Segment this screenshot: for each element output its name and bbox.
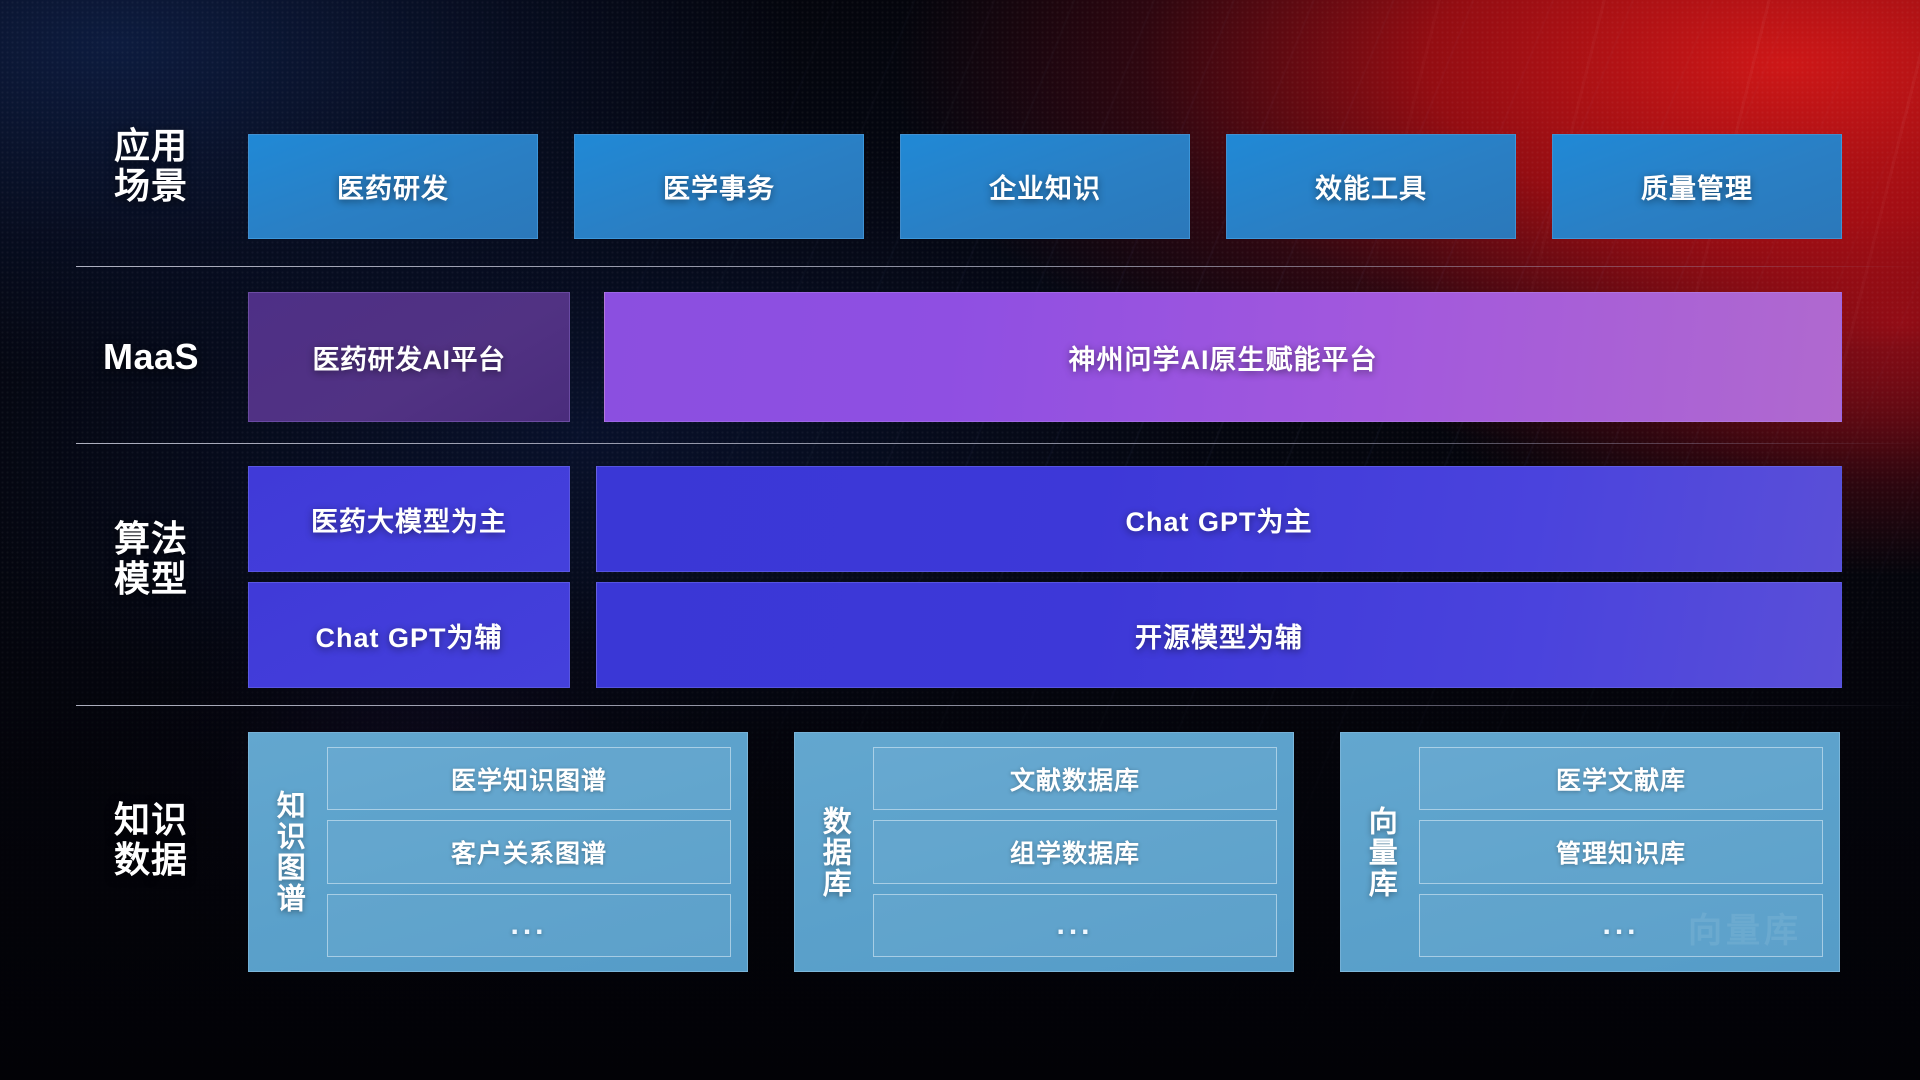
algo-row2-left-card[interactable]: Chat GPT为辅 <box>248 582 570 688</box>
algo-row2-right-card[interactable]: 开源模型为辅 <box>596 582 1842 688</box>
knowledge-group-2-item-3[interactable]: ... <box>873 894 1277 957</box>
app-card-5-label: 质量管理 <box>1641 167 1753 206</box>
row-label-application: 应用 场景 <box>76 126 226 207</box>
algo-row1-right-label: Chat GPT为主 <box>1125 500 1312 539</box>
knowledge-group-1-title: 知识图谱 <box>259 747 317 957</box>
row-label-application-line2: 场景 <box>76 166 226 206</box>
row-label-algorithm-line2: 模型 <box>76 559 226 599</box>
architecture-diagram: 应用 场景 医药研发 医学事务 企业知识 效能工具 质量管理 MaaS 医药研发… <box>0 0 1920 1080</box>
knowledge-group-3-item-3[interactable]: ... <box>1419 894 1823 957</box>
knowledge-group-1-item-1[interactable]: 医学知识图谱 <box>327 747 731 810</box>
divider-3 <box>76 705 1920 706</box>
knowledge-group-2[interactable]: 数据库 文献数据库 组学数据库 ... <box>794 732 1294 972</box>
knowledge-group-2-title: 数据库 <box>805 747 863 957</box>
knowledge-group-3-title: 向量库 <box>1351 747 1409 957</box>
row-label-algorithm: 算法 模型 <box>76 519 226 600</box>
maas-left-card-label: 医药研发AI平台 <box>313 338 506 377</box>
maas-right-card-label: 神州问学AI原生赋能平台 <box>1069 338 1378 377</box>
app-card-5[interactable]: 质量管理 <box>1552 134 1842 239</box>
algo-row1-right-card[interactable]: Chat GPT为主 <box>596 466 1842 572</box>
row-label-maas: MaaS <box>76 337 226 377</box>
row-label-maas-text: MaaS <box>76 337 226 377</box>
algo-row2-right-label: 开源模型为辅 <box>1135 616 1303 655</box>
divider-1 <box>76 266 1920 267</box>
knowledge-group-2-item-1[interactable]: 文献数据库 <box>873 747 1277 810</box>
app-card-4-label: 效能工具 <box>1315 167 1427 206</box>
app-card-4[interactable]: 效能工具 <box>1226 134 1516 239</box>
divider-2 <box>76 443 1920 444</box>
app-card-3-label: 企业知识 <box>989 167 1101 206</box>
knowledge-group-3-item-2[interactable]: 管理知识库 <box>1419 820 1823 883</box>
knowledge-group-1[interactable]: 知识图谱 医学知识图谱 客户关系图谱 ... <box>248 732 748 972</box>
app-card-1[interactable]: 医药研发 <box>248 134 538 239</box>
knowledge-group-3-item-1[interactable]: 医学文献库 <box>1419 747 1823 810</box>
row-label-knowledge: 知识 数据 <box>76 800 226 881</box>
row-label-algorithm-line1: 算法 <box>76 519 226 559</box>
row-label-application-line1: 应用 <box>76 126 226 166</box>
knowledge-group-1-item-3[interactable]: ... <box>327 894 731 957</box>
knowledge-group-1-item-2[interactable]: 客户关系图谱 <box>327 820 731 883</box>
maas-left-card[interactable]: 医药研发AI平台 <box>248 292 570 422</box>
knowledge-group-2-items: 文献数据库 组学数据库 ... <box>873 747 1277 957</box>
knowledge-group-3[interactable]: 向量库 医学文献库 管理知识库 ... <box>1340 732 1840 972</box>
row-label-knowledge-line1: 知识 <box>76 800 226 840</box>
app-card-1-label: 医药研发 <box>337 167 449 206</box>
knowledge-group-3-items: 医学文献库 管理知识库 ... <box>1419 747 1823 957</box>
row-label-knowledge-line2: 数据 <box>76 840 226 880</box>
app-card-2-label: 医学事务 <box>663 167 775 206</box>
knowledge-group-2-item-2[interactable]: 组学数据库 <box>873 820 1277 883</box>
app-card-3[interactable]: 企业知识 <box>900 134 1190 239</box>
app-card-2[interactable]: 医学事务 <box>574 134 864 239</box>
maas-right-card[interactable]: 神州问学AI原生赋能平台 <box>604 292 1842 422</box>
algo-row1-left-label: 医药大模型为主 <box>311 500 507 539</box>
algo-row2-left-label: Chat GPT为辅 <box>315 616 502 655</box>
algo-row1-left-card[interactable]: 医药大模型为主 <box>248 466 570 572</box>
knowledge-group-1-items: 医学知识图谱 客户关系图谱 ... <box>327 747 731 957</box>
